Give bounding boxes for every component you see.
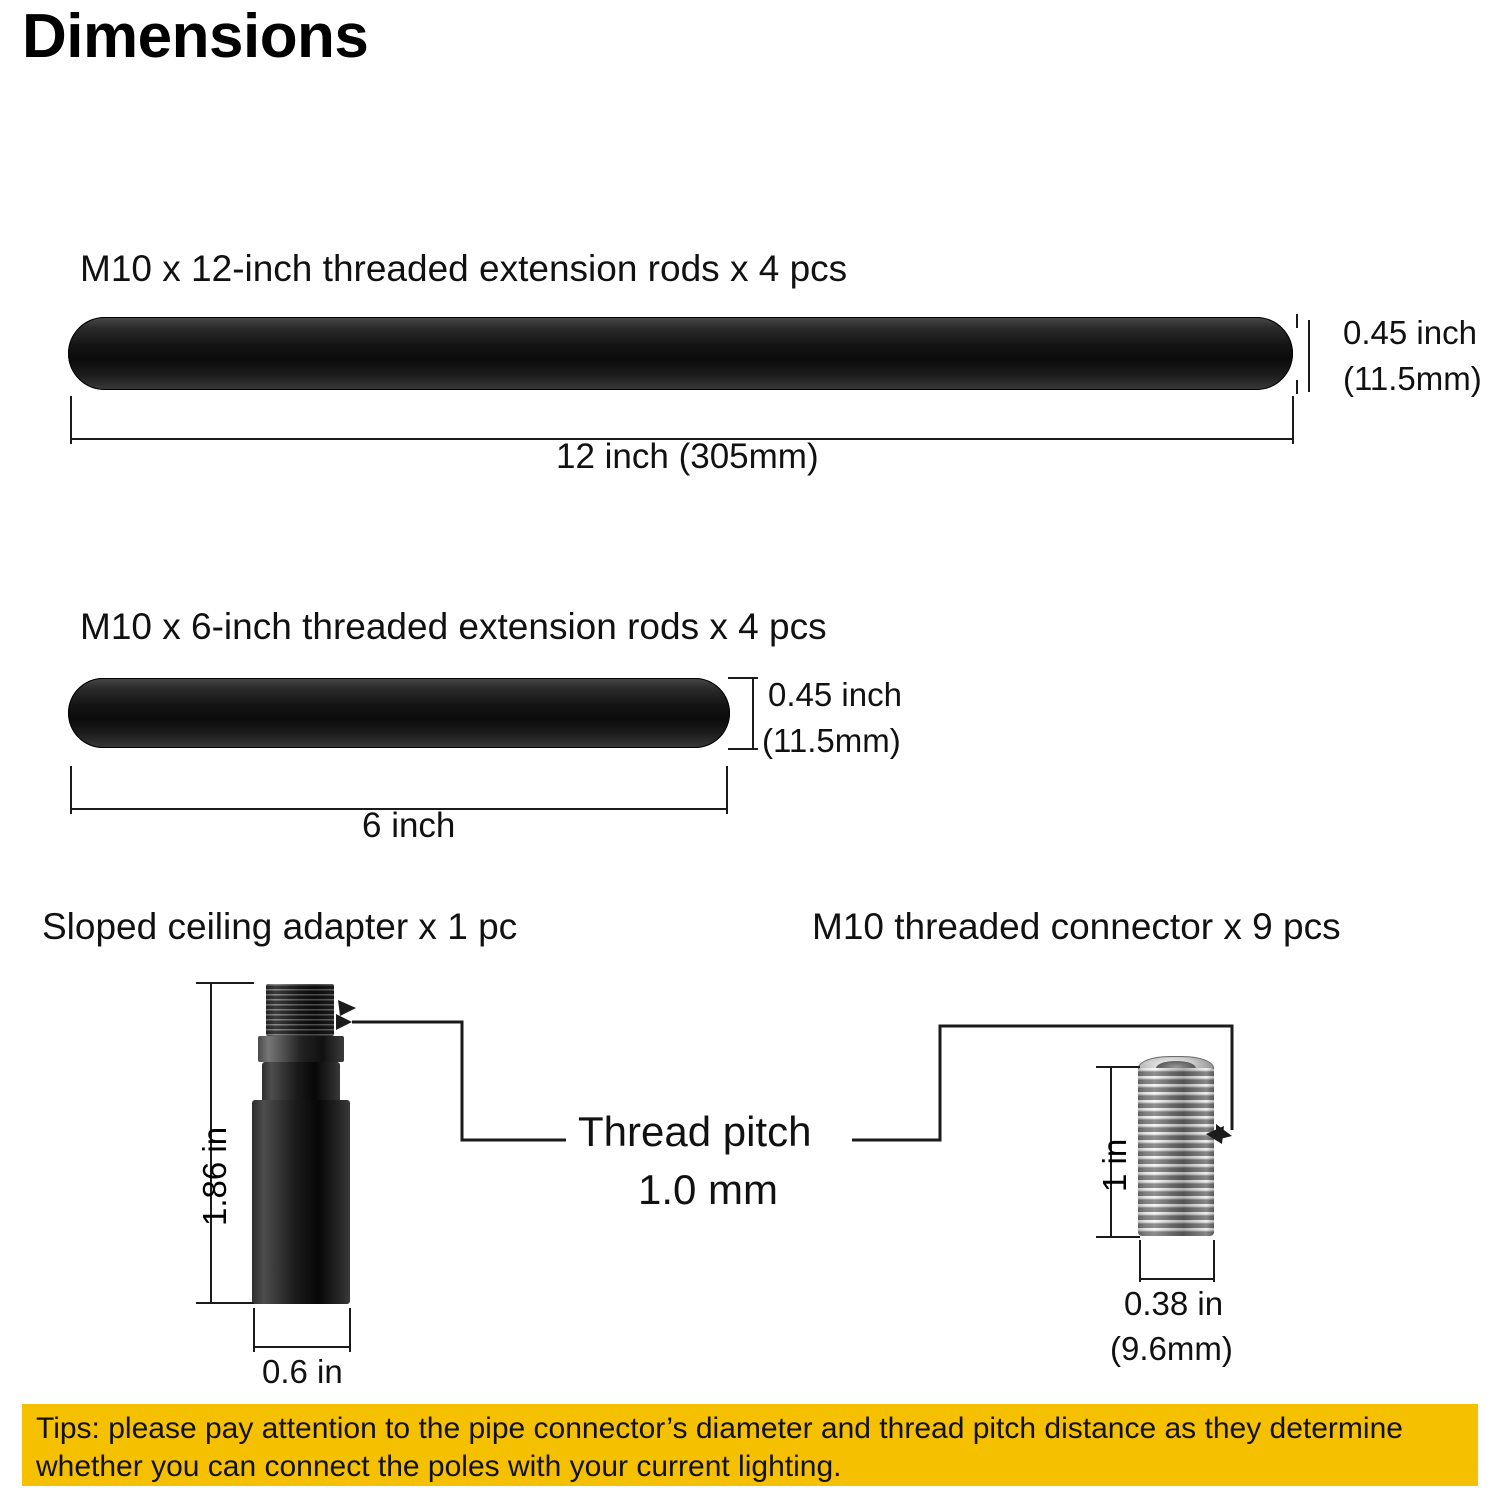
rod6-diameter-value-mm: (11.5mm) <box>762 722 901 760</box>
rod12-length-tick-right <box>1292 396 1294 444</box>
rod12-diameter-value: 0.45 inch <box>1343 314 1477 352</box>
page-title: Dimensions <box>22 6 368 68</box>
connector-diameter-dimline <box>1139 1278 1213 1280</box>
connector-diameter-tick-left <box>1139 1240 1141 1282</box>
adapter-height-value: 1.86 in <box>196 1127 234 1226</box>
rod12-length-tick-left <box>70 396 72 444</box>
dimensions-diagram: Dimensions M10 x 12-inch threaded extens… <box>0 0 1500 1494</box>
connector-threaded-body <box>1138 1068 1214 1236</box>
adapter-width-dimline <box>253 1346 349 1348</box>
adapter-height-tick-top <box>196 982 254 984</box>
rod12-diameter-extension-bottom <box>1296 380 1298 394</box>
rod6-length-value: 6 inch <box>362 806 455 846</box>
connector-diameter-value-mm: (9.6mm) <box>1110 1330 1233 1368</box>
rod12-diameter-dimline <box>1308 320 1310 392</box>
connector-length-value: 1 in <box>1096 1139 1134 1192</box>
connector-diameter-tick-right <box>1213 1240 1215 1282</box>
connector-diameter-value: 0.38 in <box>1124 1285 1223 1323</box>
adapter-heading: Sloped ceiling adapter x 1 pc <box>42 906 517 948</box>
adapter-collar <box>258 1036 344 1062</box>
rod12-diameter-value-mm: (11.5mm) <box>1343 360 1482 398</box>
tips-line-2: whether you can connect the poles with y… <box>36 1448 1464 1486</box>
adapter-body-lower <box>252 1100 350 1304</box>
connector-length-tick-top <box>1096 1066 1140 1068</box>
tips-line-1: Tips: please pay attention to the pipe c… <box>36 1410 1464 1448</box>
thread-pitch-value: 1.0 mm <box>638 1166 778 1214</box>
connector-heading: M10 threaded connector x 9 pcs <box>812 906 1341 948</box>
rod12-diameter-extension-top <box>1296 314 1298 328</box>
tips-banner: Tips: please pay attention to the pipe c… <box>22 1404 1478 1486</box>
rod6-diameter-dimline <box>752 678 754 748</box>
rod-12-inch <box>68 317 1293 390</box>
rod6-diameter-extension-bottom <box>728 748 758 750</box>
adapter-width-tick-right <box>349 1308 351 1352</box>
adapter-width-value: 0.6 in <box>262 1353 343 1391</box>
rod6-heading: M10 x 6-inch threaded extension rods x 4… <box>80 606 827 648</box>
rod12-heading: M10 x 12-inch threaded extension rods x … <box>80 248 847 290</box>
adapter-body-upper <box>262 1062 340 1104</box>
connector-length-tick-bottom <box>1096 1236 1140 1238</box>
rod6-diameter-value: 0.45 inch <box>768 676 902 714</box>
rod-6-inch <box>68 678 730 748</box>
rod12-length-value: 12 inch (305mm) <box>556 437 819 477</box>
rod6-length-tick-left <box>70 766 72 814</box>
thread-pitch-label: Thread pitch <box>578 1108 811 1156</box>
adapter-height-tick-bottom <box>196 1302 254 1304</box>
rod6-length-tick-right <box>726 766 728 814</box>
adapter-threaded-tip <box>266 984 334 1036</box>
